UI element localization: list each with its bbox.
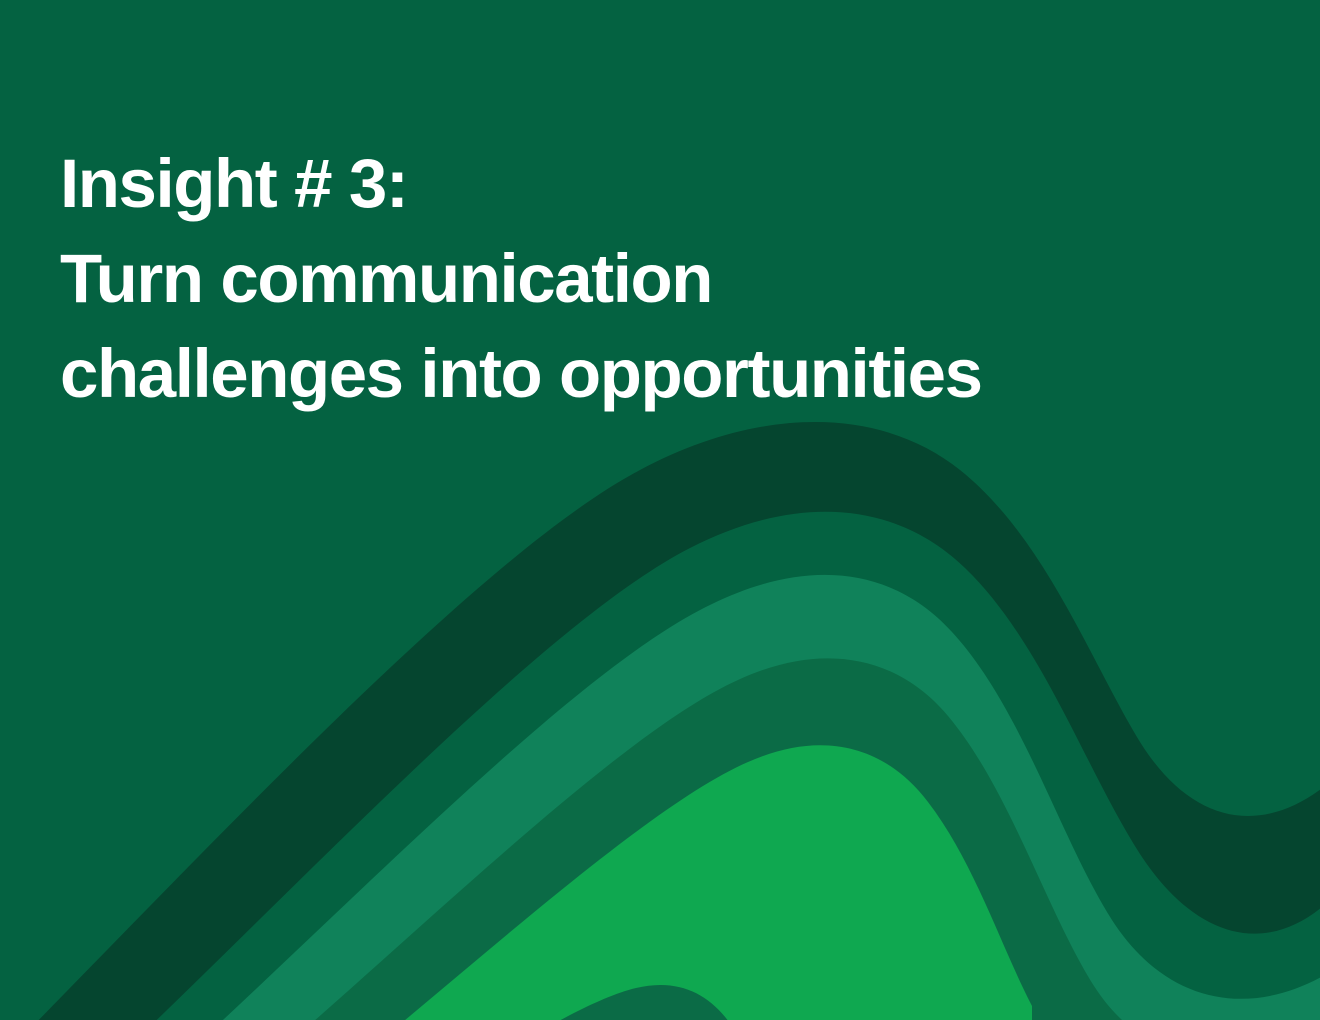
headline-line-2: Turn communication xyxy=(60,231,1260,326)
headline-line-3: challenges into opportunities xyxy=(60,326,1260,421)
slide-canvas: Insight # 3: Turn communication challeng… xyxy=(0,0,1320,1020)
page-title: Insight # 3: Turn communication challeng… xyxy=(60,136,1260,421)
headline-line-1: Insight # 3: xyxy=(60,136,1260,231)
